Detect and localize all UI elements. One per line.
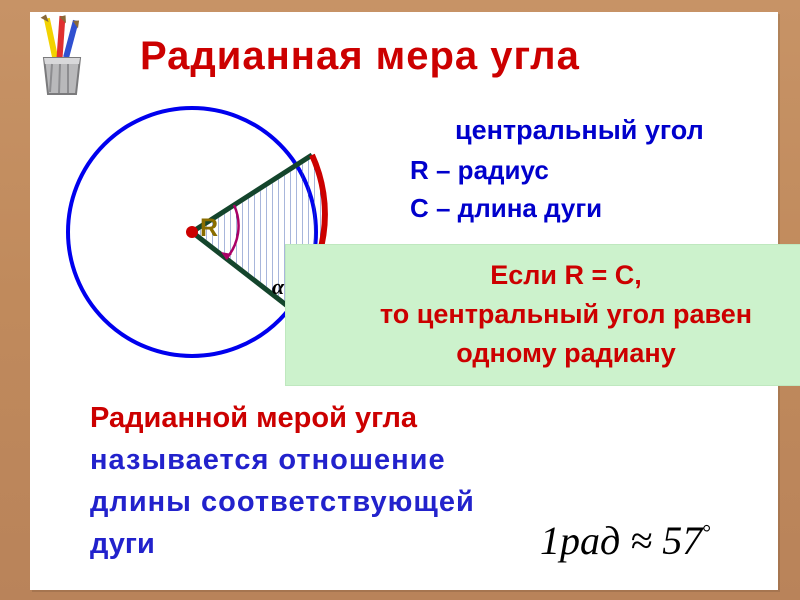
callout-line-1: Если R = C, [286,260,800,291]
text-radius-definition: R – радиус [410,155,549,186]
text-arc-definition: C – длина дуги [410,193,602,224]
callout-line-3: одному радиану [286,338,800,369]
callout-line-2: то центральный угол равен [286,299,800,330]
degree-symbol: ° [702,520,711,545]
page-title: Радианная мера угла [140,34,780,79]
callout-box: Если R = C, то центральный угол равен од… [285,244,800,386]
definition-line-3: длины соответствующей [90,486,475,519]
label-angle: α [272,274,284,300]
definition-line-2: называется отношение [90,444,446,477]
definition-line-4: дуги [90,528,155,561]
definition-line-1: Радианной мерой угла [90,402,417,435]
formula-value: 1рад ≈ 57 [540,518,702,563]
slide-background: Радианная мера угла [0,0,800,600]
label-radius: R [200,214,218,243]
formula-radian-degrees: 1рад ≈ 57° [540,517,711,564]
text-central-angle: центральный угол [455,115,704,146]
slide-canvas: Радианная мера угла [30,12,778,590]
center-point [186,226,198,238]
